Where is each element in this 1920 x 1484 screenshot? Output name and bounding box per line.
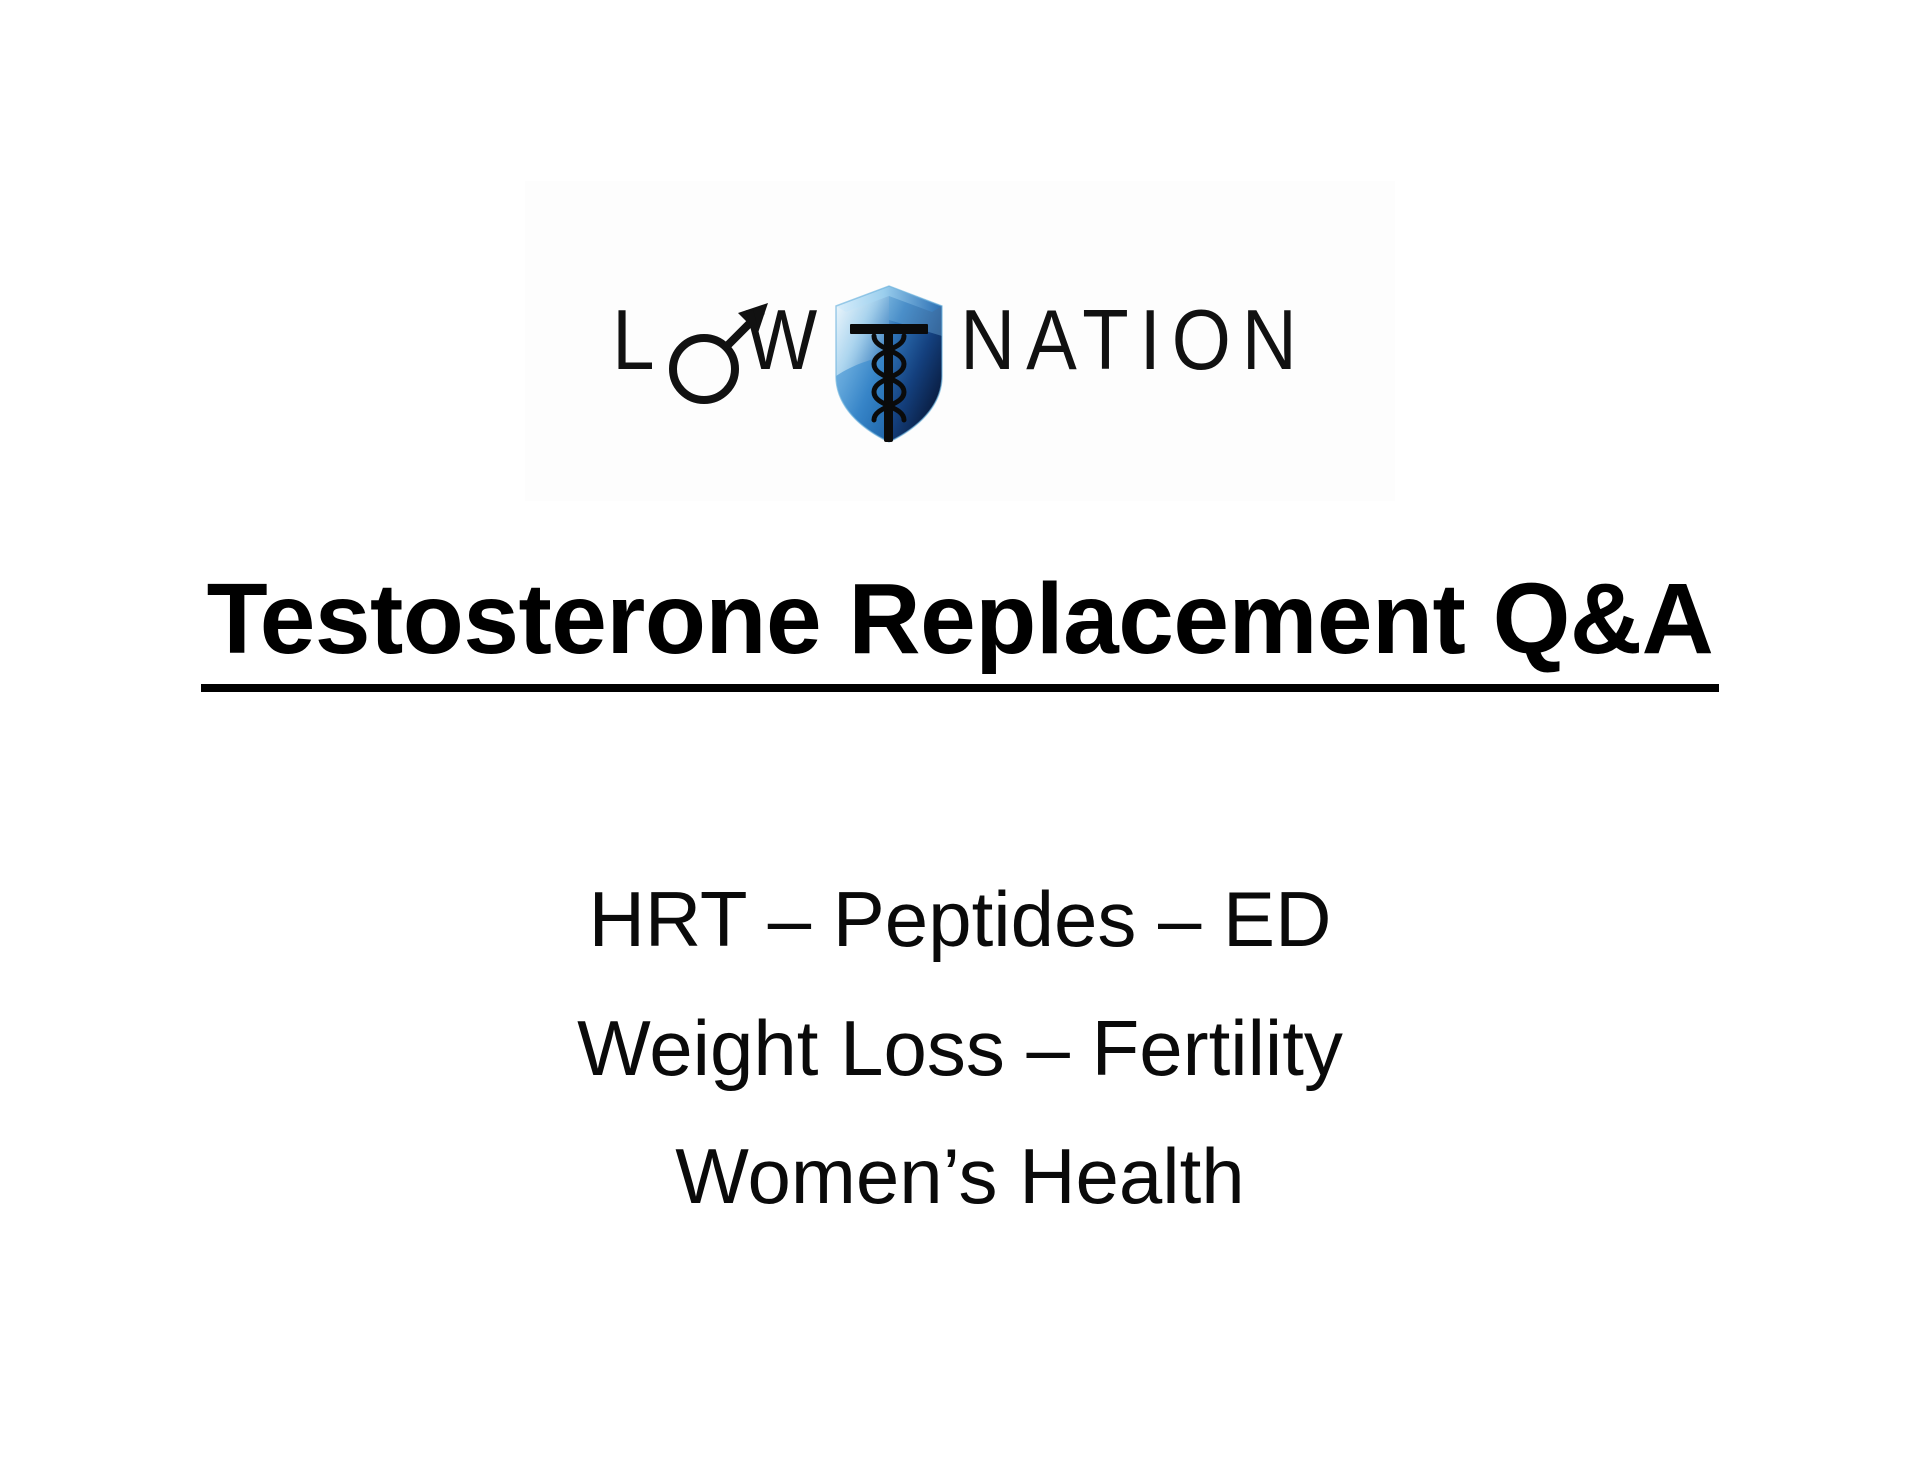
logo-row: L W [612,261,1308,421]
subtitle-line: Weight Loss – Fertility [0,984,1920,1113]
logo-block: L W [0,176,1920,506]
presentation-slide: L W [0,0,1920,1484]
subtitle-line: Women’s Health [0,1112,1920,1241]
logo-word-right: NATION [960,298,1307,383]
subtitle-line: HRT – Peptides – ED [0,855,1920,984]
slide-subtitle-list: HRT – Peptides – ED Weight Loss – Fertil… [0,855,1920,1241]
logo-word-left: L [612,298,665,383]
slide-title: Testosterone Replacement Q&A [0,560,1920,692]
brand-logo: L W [525,181,1395,501]
slide-title-text: Testosterone Replacement Q&A [201,560,1720,692]
shield-caduceus-icon [830,280,948,430]
male-symbol-icon [668,303,740,379]
logo-word-left-tail: W [746,298,829,383]
